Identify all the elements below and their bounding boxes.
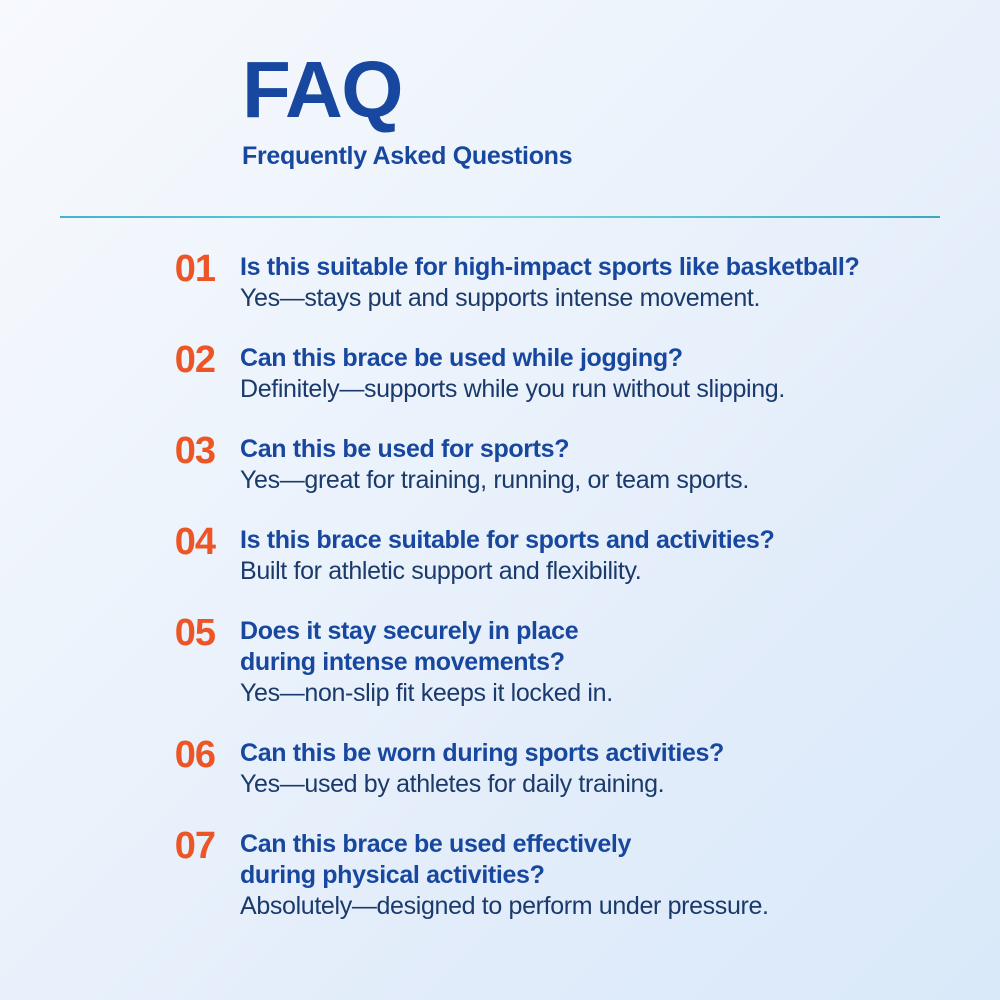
faq-item: 03 Can this be used for sports? Yes—grea… bbox=[0, 432, 1000, 496]
faq-list: 01 Is this suitable for high-impact spor… bbox=[0, 250, 1000, 949]
faq-item: 05 Does it stay securely in placeduring … bbox=[0, 614, 1000, 709]
faq-question: Can this be worn during sports activitie… bbox=[240, 738, 1000, 769]
faq-number: 05 bbox=[0, 614, 215, 652]
faq-answer: Yes—non-slip fit keeps it locked in. bbox=[240, 678, 1000, 709]
faq-answer: Yes—stays put and supports intense movem… bbox=[240, 283, 1000, 314]
faq-item: 02 Can this brace be used while jogging?… bbox=[0, 341, 1000, 405]
faq-question: Is this suitable for high-impact sports … bbox=[240, 252, 1000, 283]
faq-content: Does it stay securely in placeduring int… bbox=[215, 614, 1000, 709]
faq-content: Can this be used for sports? Yes—great f… bbox=[215, 432, 1000, 496]
faq-question: Can this be used for sports? bbox=[240, 434, 1000, 465]
faq-number: 03 bbox=[0, 432, 215, 470]
faq-number: 01 bbox=[0, 250, 215, 288]
faq-item: 04 Is this brace suitable for sports and… bbox=[0, 523, 1000, 587]
page-subtitle: Frequently Asked Questions bbox=[242, 142, 572, 171]
faq-answer: Yes—great for training, running, or team… bbox=[240, 465, 1000, 496]
header: FAQ Frequently Asked Questions bbox=[242, 52, 572, 171]
faq-question: Can this brace be used effectivelyduring… bbox=[240, 829, 1000, 891]
faq-answer: Absolutely—designed to perform under pre… bbox=[240, 891, 1000, 922]
faq-question: Can this brace be used while jogging? bbox=[240, 343, 1000, 374]
header-divider bbox=[60, 216, 940, 218]
faq-content: Can this brace be used while jogging? De… bbox=[215, 341, 1000, 405]
faq-number: 06 bbox=[0, 736, 215, 774]
faq-item: 06 Can this be worn during sports activi… bbox=[0, 736, 1000, 800]
faq-content: Can this be worn during sports activitie… bbox=[215, 736, 1000, 800]
faq-answer: Yes—used by athletes for daily training. bbox=[240, 769, 1000, 800]
faq-question: Is this brace suitable for sports and ac… bbox=[240, 525, 1000, 556]
faq-content: Can this brace be used effectivelyduring… bbox=[215, 827, 1000, 922]
page-title: FAQ bbox=[242, 52, 572, 128]
faq-item: 07 Can this brace be used effectivelydur… bbox=[0, 827, 1000, 922]
faq-number: 02 bbox=[0, 341, 215, 379]
faq-content: Is this brace suitable for sports and ac… bbox=[215, 523, 1000, 587]
faq-infographic: FAQ Frequently Asked Questions 01 Is thi… bbox=[0, 0, 1000, 1000]
faq-question: Does it stay securely in placeduring int… bbox=[240, 616, 1000, 678]
faq-number: 07 bbox=[0, 827, 215, 865]
faq-answer: Definitely—supports while you run withou… bbox=[240, 374, 1000, 405]
faq-content: Is this suitable for high-impact sports … bbox=[215, 250, 1000, 314]
faq-number: 04 bbox=[0, 523, 215, 561]
faq-item: 01 Is this suitable for high-impact spor… bbox=[0, 250, 1000, 314]
faq-answer: Built for athletic support and flexibili… bbox=[240, 556, 1000, 587]
